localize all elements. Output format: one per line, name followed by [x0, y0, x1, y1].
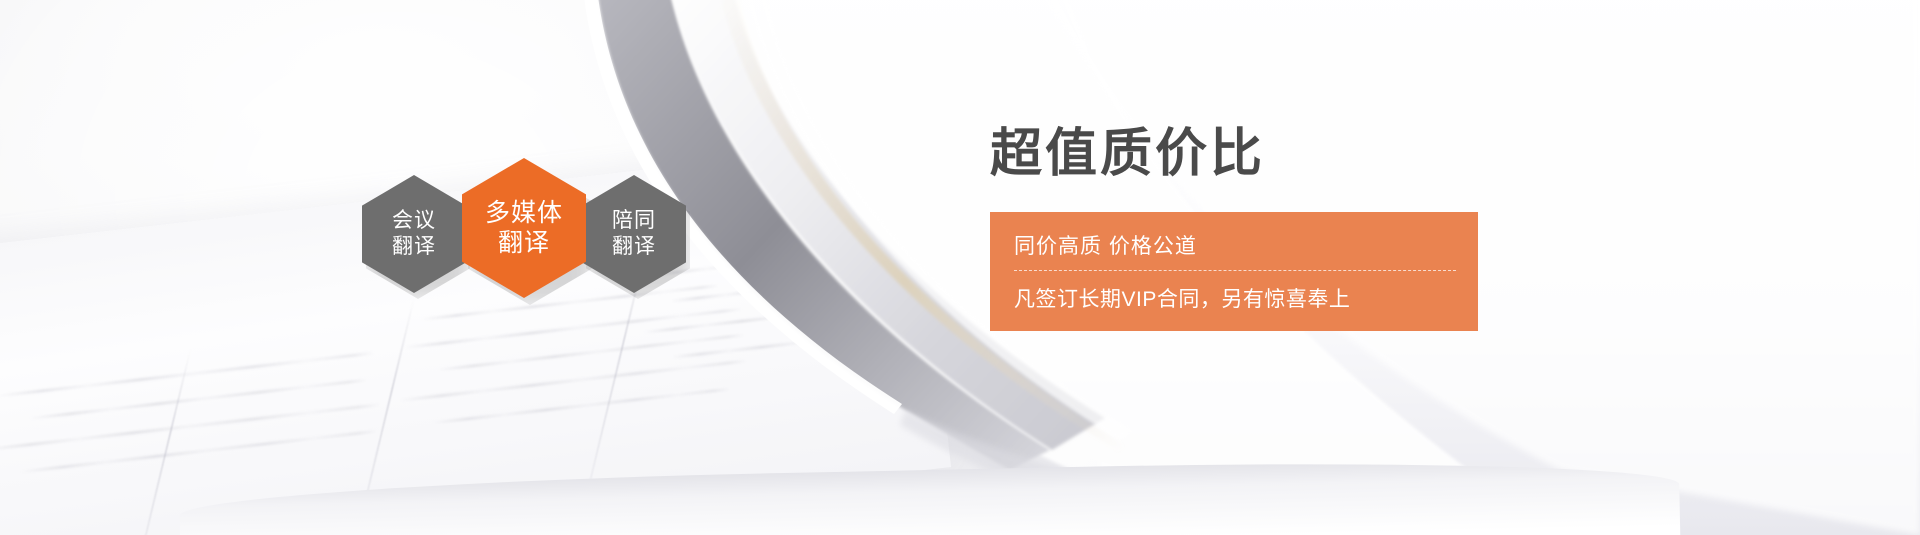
hexagon-label-line1: 多媒体 [485, 198, 563, 229]
promo-box: 同价高质 价格公道 凡签订长期VIP合同，另有惊喜奉上 [990, 212, 1478, 331]
hexagon-label-line1: 会议 [392, 208, 436, 234]
hexagon-label-line1: 陪同 [612, 208, 656, 234]
banner-copy-block: 超值质价比 同价高质 价格公道 凡签订长期VIP合同，另有惊喜奉上 [990, 128, 1690, 331]
service-hexagon-group: 会议 翻译 多媒体 翻译 陪同 翻译 [362, 148, 732, 288]
promo-line-secondary: 凡签订长期VIP合同，另有惊喜奉上 [990, 271, 1478, 315]
promotional-banner: 会议 翻译 多媒体 翻译 陪同 翻译 超值质价比 同价高质 价格公道 凡签订长期… [0, 0, 1920, 535]
hexagon-label-line2: 翻译 [392, 234, 436, 260]
banner-headline: 超值质价比 [990, 128, 1690, 180]
hexagon-label-line2: 翻译 [498, 228, 550, 259]
hexagon-label-line2: 翻译 [612, 234, 656, 260]
promo-line-primary: 同价高质 价格公道 [990, 226, 1478, 270]
